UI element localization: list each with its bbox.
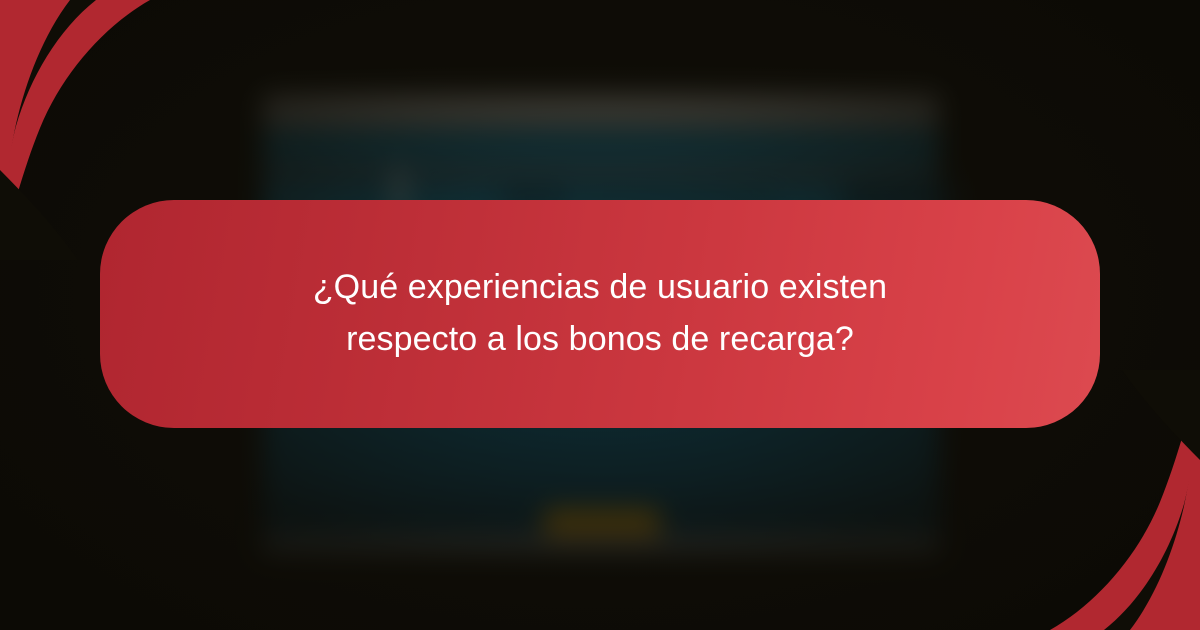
question-card: ¿Qué experiencias de usuario existen res… [100, 200, 1100, 428]
question-title: ¿Qué experiencias de usuario existen res… [270, 262, 930, 365]
og-image-canvas: ¿Qué experiencias de usuario existen res… [0, 0, 1200, 630]
